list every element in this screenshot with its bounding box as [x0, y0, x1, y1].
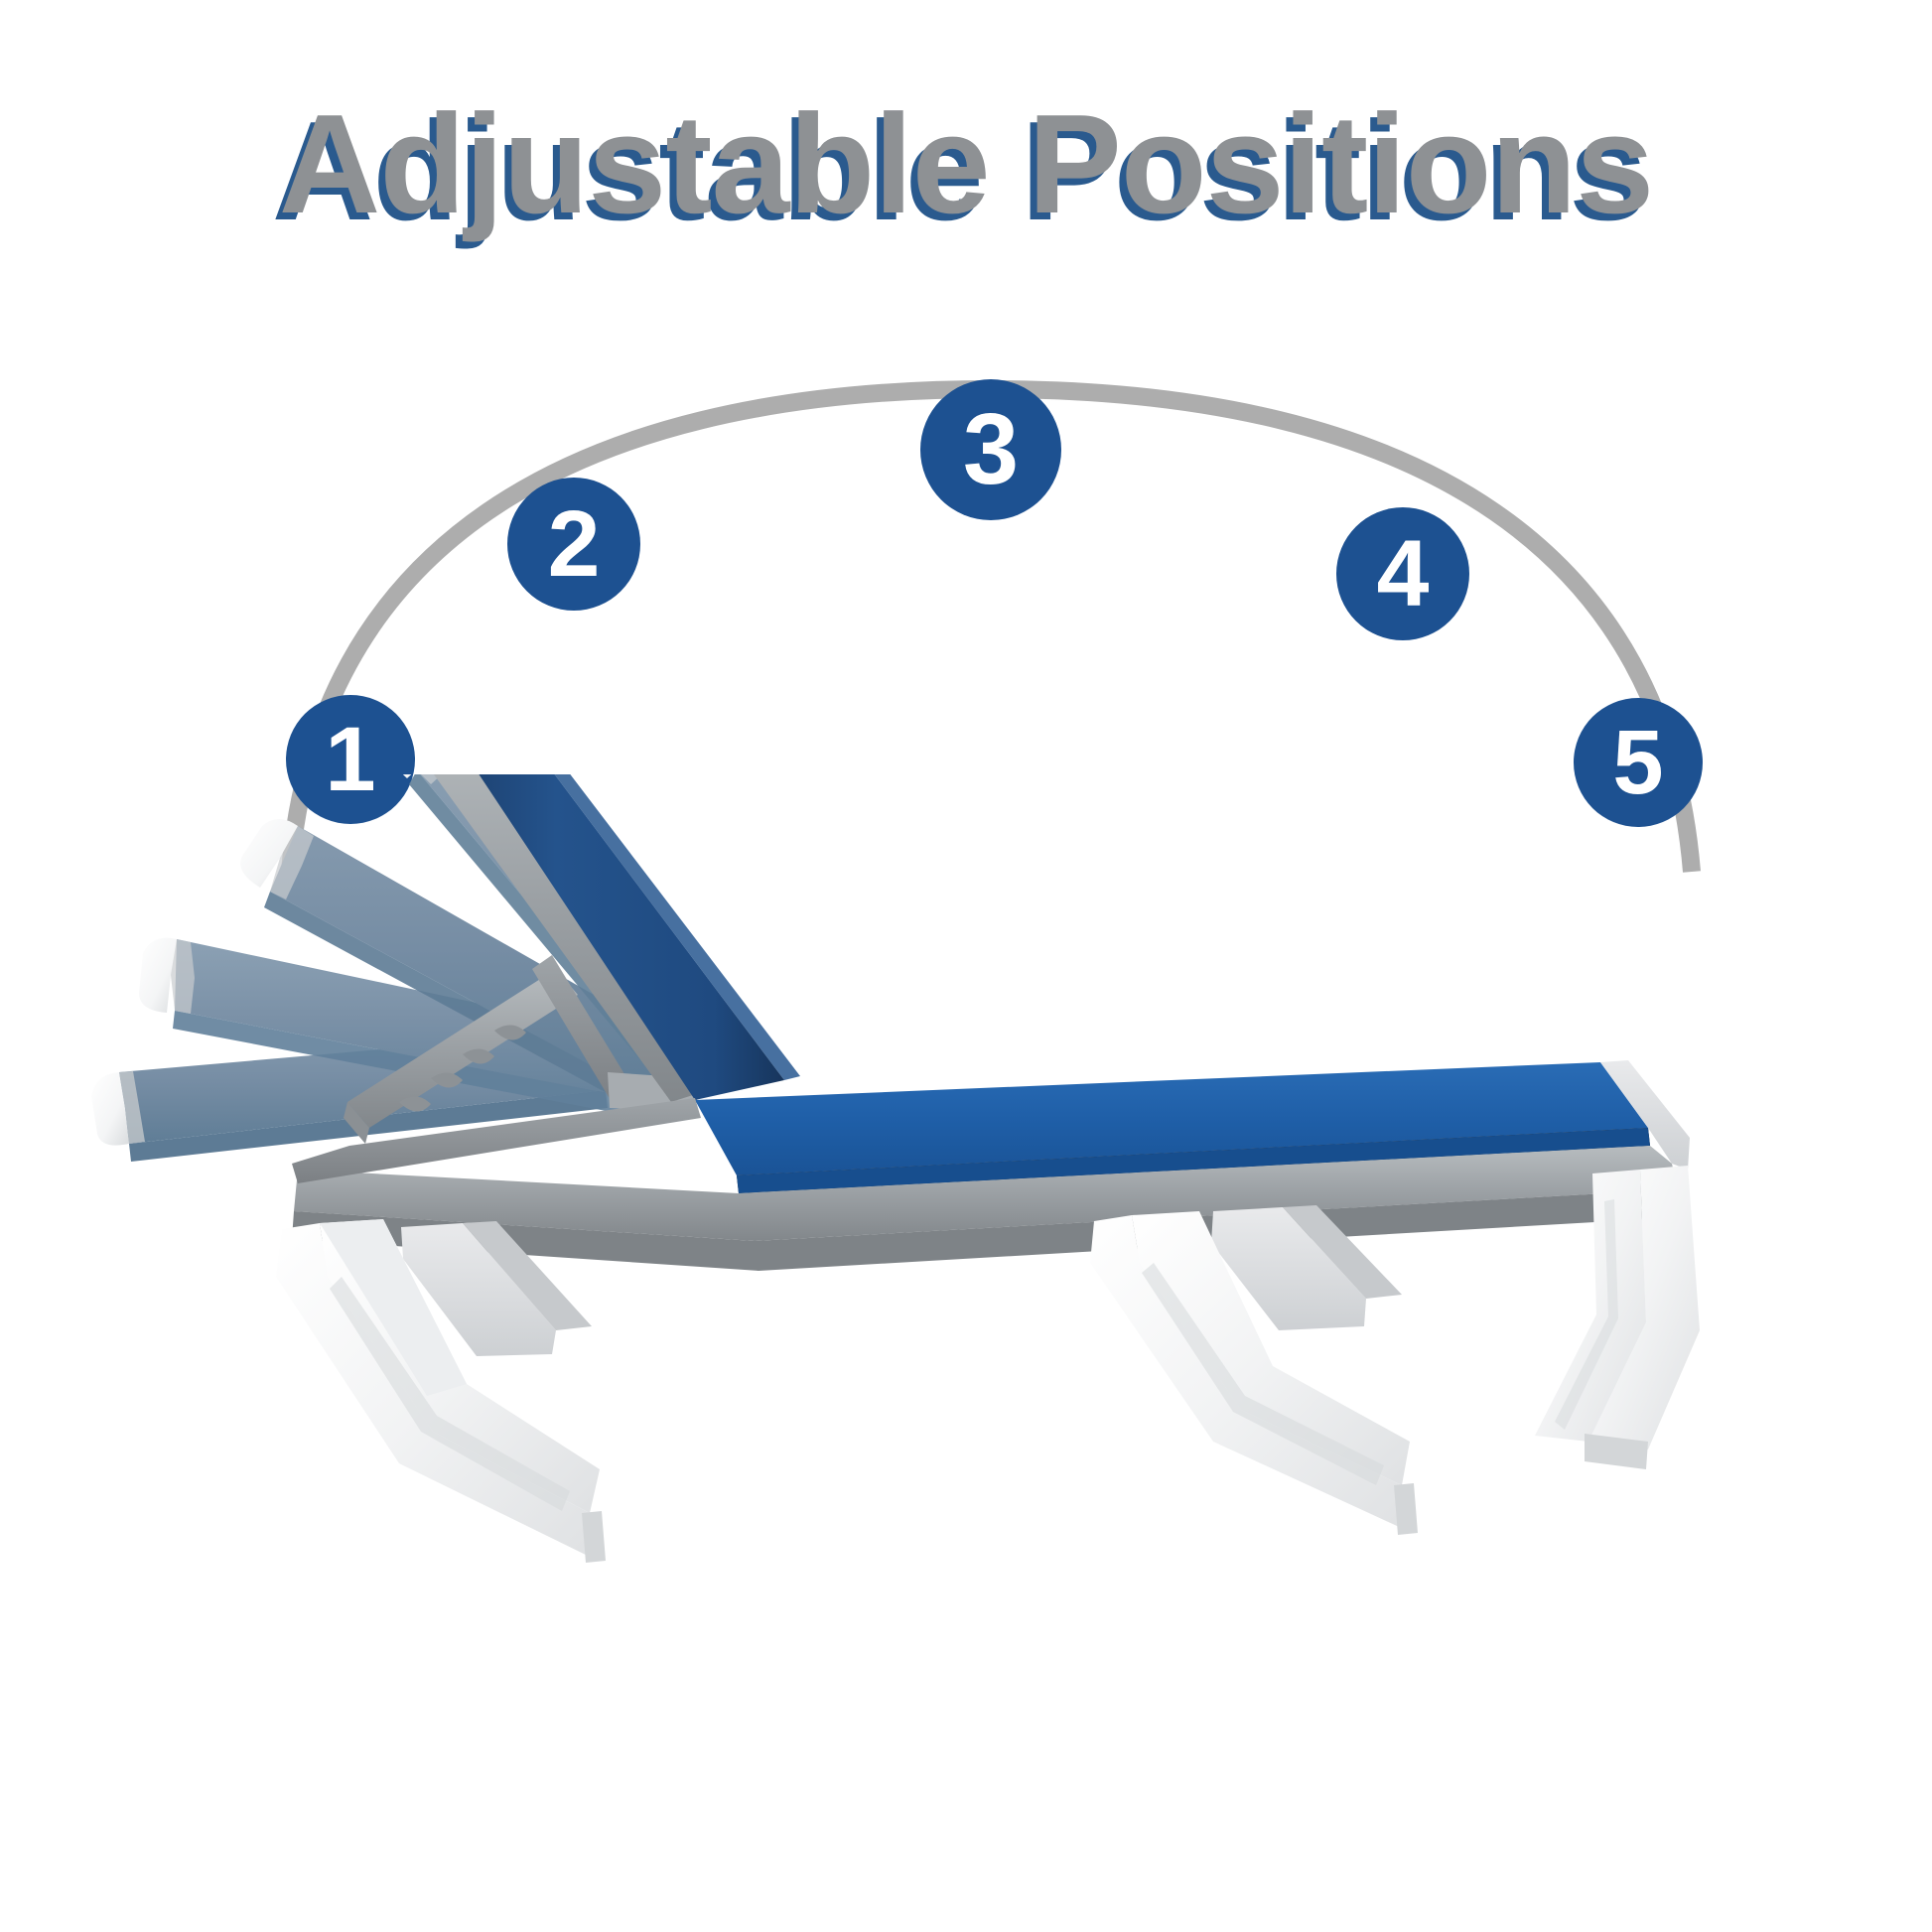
position-badge-2[interactable]: 2 — [507, 478, 640, 611]
position-badge-label: 4 — [1377, 527, 1430, 621]
position-badge-label: 2 — [548, 497, 601, 592]
position-badge-label: 3 — [963, 400, 1019, 500]
position-badge-4[interactable]: 4 — [1336, 507, 1469, 640]
position-badge-3[interactable]: 3 — [920, 379, 1061, 520]
chaise-lounge-illustration — [0, 774, 1932, 1932]
infographic-canvas: Adjustable Positions Adjustable Position… — [0, 0, 1932, 1932]
